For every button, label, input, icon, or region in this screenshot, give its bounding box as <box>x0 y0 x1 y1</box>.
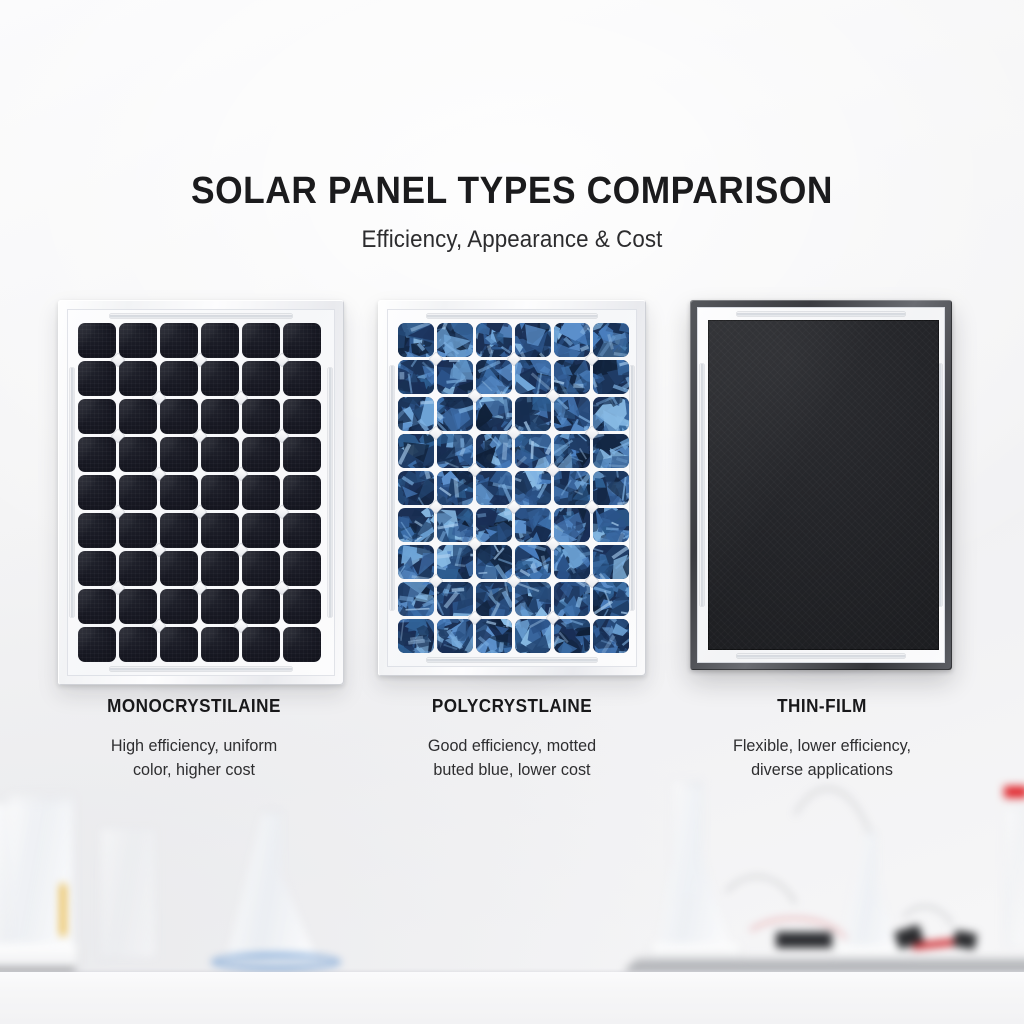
crystal-facet-texture <box>437 323 473 357</box>
panel-inner-border <box>697 307 945 663</box>
photovoltaic-cell-grid <box>398 323 629 653</box>
busbar-rail-left <box>390 366 394 609</box>
photovoltaic-cell <box>78 627 116 662</box>
photovoltaic-cell <box>476 434 512 468</box>
photovoltaic-cell <box>515 545 551 579</box>
experiment-setup-right <box>600 780 1024 990</box>
crystal-facet-texture <box>593 360 629 394</box>
photovoltaic-cell <box>119 475 157 510</box>
photovoltaic-cell <box>242 399 280 434</box>
photovoltaic-cell <box>398 508 434 542</box>
crystal-facet-texture <box>437 360 473 394</box>
header: SOLAR PANEL TYPES COMPARISON Efficiency,… <box>0 172 1024 254</box>
glassware-cluster-left <box>0 788 282 978</box>
crystal-facet-texture <box>476 434 512 468</box>
photovoltaic-cell <box>78 437 116 472</box>
photovoltaic-cell <box>283 513 321 548</box>
photovoltaic-cell <box>201 361 239 396</box>
photovoltaic-cell <box>515 397 551 431</box>
photovoltaic-cell <box>119 437 157 472</box>
photovoltaic-cell <box>78 323 116 358</box>
crystal-facet-texture <box>593 471 629 505</box>
caption-thin-film: THIN-FILM Flexible, lower efficiency, di… <box>686 696 958 782</box>
crystal-facet-texture <box>398 397 434 431</box>
photovoltaic-cell <box>283 475 321 510</box>
crystal-facet-texture <box>398 360 434 394</box>
description-line-1: Good efficiency, motted <box>428 736 596 755</box>
busbar-rail-right <box>630 366 634 609</box>
crystal-facet-texture <box>593 582 629 616</box>
red-label-chip <box>1004 786 1024 798</box>
photovoltaic-cell <box>160 513 198 548</box>
bench-edge-strip <box>0 968 75 972</box>
photovoltaic-cell <box>283 323 321 358</box>
photovoltaic-cell <box>201 589 239 624</box>
photovoltaic-cell <box>160 323 198 358</box>
crystal-facet-texture <box>593 323 629 357</box>
photovoltaic-cell <box>398 545 434 579</box>
photovoltaic-cell <box>160 627 198 662</box>
crystal-facet-texture <box>437 545 473 579</box>
foreground-lab-bench <box>0 774 1024 1024</box>
photovoltaic-cell <box>398 360 434 394</box>
busbar-rail-bottom <box>737 654 906 658</box>
photovoltaic-cell <box>593 434 629 468</box>
busbar-rail-top <box>737 312 906 316</box>
photovoltaic-cell <box>515 434 551 468</box>
crystal-facet-texture <box>515 619 551 653</box>
photovoltaic-cell <box>283 627 321 662</box>
photovoltaic-cell <box>160 589 198 624</box>
photovoltaic-cell <box>242 361 280 396</box>
busbar-rail-right <box>328 368 332 618</box>
photovoltaic-cell <box>554 545 590 579</box>
panel-description-thin-film: Flexible, lower efficiency, diverse appl… <box>693 734 951 782</box>
crystal-facet-texture <box>515 508 551 542</box>
busbar-rail-bottom <box>427 658 597 662</box>
photovoltaic-cell <box>78 551 116 586</box>
erlenmeyer-flask <box>226 812 318 962</box>
photovoltaic-cell <box>515 508 551 542</box>
panel-inner-border <box>387 309 637 667</box>
photovoltaic-cell <box>437 545 473 579</box>
caption-monocrystalline: MONOCRYSTILAINE High efficiency, uniform… <box>44 696 344 782</box>
crystal-facet-texture <box>515 471 551 505</box>
connecting-wire-red <box>738 918 850 950</box>
crystal-facet-texture <box>437 619 473 653</box>
busbar-rail-left <box>700 364 704 606</box>
crystal-facet-texture <box>437 508 473 542</box>
caption-polycrystalline: POLYCRYSTLAINE Good efficiency, motted b… <box>364 696 660 782</box>
photovoltaic-cell <box>283 437 321 472</box>
beaker-base <box>0 944 77 968</box>
crystal-facet-texture <box>437 582 473 616</box>
crystal-facet-texture <box>554 434 590 468</box>
flask-base-left <box>652 944 740 960</box>
crystal-facet-texture <box>476 545 512 579</box>
photovoltaic-cell <box>476 397 512 431</box>
photovoltaic-cell <box>437 323 473 357</box>
solar-panel-comparison-infographic: SOLAR PANEL TYPES COMPARISON Efficiency,… <box>0 0 1024 1024</box>
alligator-clip-black-2 <box>953 930 977 950</box>
photovoltaic-cell <box>437 434 473 468</box>
photovoltaic-cell <box>78 361 116 396</box>
photovoltaic-cell <box>554 397 590 431</box>
yellow-indicator-strip <box>60 884 66 936</box>
crystal-facet-texture <box>437 471 473 505</box>
crystal-facet-texture <box>398 323 434 357</box>
photovoltaic-cell <box>119 323 157 358</box>
photovoltaic-cell <box>515 360 551 394</box>
crystal-facet-texture <box>593 545 629 579</box>
photovoltaic-cell <box>476 508 512 542</box>
photovoltaic-cell <box>515 619 551 653</box>
photovoltaic-cell <box>398 434 434 468</box>
crystal-facet-texture <box>554 397 590 431</box>
photovoltaic-cell <box>160 361 198 396</box>
photovoltaic-cell <box>593 360 629 394</box>
crystal-facet-texture <box>515 545 551 579</box>
solar-panel-monocrystalline[interactable] <box>58 300 344 685</box>
photovoltaic-cell <box>283 399 321 434</box>
crystal-facet-texture <box>398 619 434 653</box>
graduated-cylinder-far-right <box>1004 808 1024 948</box>
crystal-facet-texture <box>554 508 590 542</box>
panel-label-thin-film: THIN-FILM <box>693 696 951 717</box>
photovoltaic-cell <box>201 323 239 358</box>
solar-panel-polycrystalline[interactable] <box>378 300 646 676</box>
photovoltaic-cell <box>554 582 590 616</box>
solar-panel-thin-film[interactable] <box>690 300 952 670</box>
busbar-rail-bottom <box>110 667 292 671</box>
photovoltaic-cell <box>593 619 629 653</box>
flask-base-right <box>836 946 908 962</box>
description-line-2: color, higher cost <box>133 760 255 779</box>
crystal-facet-texture <box>515 360 551 394</box>
crystal-facet-texture <box>398 582 434 616</box>
busbar-rail-top <box>110 314 292 318</box>
panel-description-polycrystalline: Good efficiency, motted buted blue, lowe… <box>371 734 652 782</box>
crystal-facet-texture <box>554 545 590 579</box>
description-line-1: Flexible, lower efficiency, <box>733 736 911 755</box>
blue-petri-dish-rim <box>212 954 340 970</box>
photovoltaic-cell <box>398 582 434 616</box>
photovoltaic-cell <box>476 545 512 579</box>
photovoltaic-cell <box>515 582 551 616</box>
photovoltaic-cell <box>201 475 239 510</box>
photovoltaic-cell <box>119 589 157 624</box>
crystal-facet-texture <box>476 323 512 357</box>
photovoltaic-cell <box>398 323 434 357</box>
photovoltaic-cell <box>119 551 157 586</box>
page-subtitle: Efficiency, Appearance & Cost <box>36 226 988 254</box>
panel-column-polycrystalline[interactable] <box>378 300 646 676</box>
photovoltaic-cell <box>160 551 198 586</box>
photovoltaic-cell <box>242 323 280 358</box>
connecting-wire-arc-1 <box>710 876 804 938</box>
photovoltaic-cell <box>160 475 198 510</box>
metal-tray <box>624 958 1024 972</box>
description-line-2: buted blue, lower cost <box>433 760 590 779</box>
crystal-facet-texture <box>593 508 629 542</box>
photovoltaic-cell <box>398 397 434 431</box>
photovoltaic-cell <box>593 582 629 616</box>
photovoltaic-cell <box>554 508 590 542</box>
photovoltaic-cell <box>201 627 239 662</box>
glass-plate <box>8 794 74 950</box>
photovoltaic-cell <box>78 399 116 434</box>
photovoltaic-cell <box>283 361 321 396</box>
photovoltaic-cell <box>119 627 157 662</box>
connecting-wire-arc-2 <box>768 788 888 942</box>
crystal-facet-texture <box>593 434 629 468</box>
thin-film-surface <box>708 320 939 650</box>
crystal-facet-texture <box>515 434 551 468</box>
photovoltaic-cell <box>119 361 157 396</box>
bench-surface <box>0 972 1024 1024</box>
crystal-facet-texture <box>476 397 512 431</box>
panel-frame-dark <box>690 300 952 670</box>
crystal-facet-texture <box>398 471 434 505</box>
photovoltaic-cell <box>593 471 629 505</box>
page-title: SOLAR PANEL TYPES COMPARISON <box>36 172 988 212</box>
crystal-facet-texture <box>398 545 434 579</box>
glassware-cluster-center <box>218 804 388 979</box>
photovoltaic-cell <box>554 360 590 394</box>
photovoltaic-cell <box>515 471 551 505</box>
photovoltaic-cell <box>437 619 473 653</box>
photovoltaic-cell-grid <box>78 323 321 662</box>
crystal-facet-texture <box>554 471 590 505</box>
beaker <box>0 802 74 950</box>
crystal-facet-texture <box>515 323 551 357</box>
photovoltaic-cell <box>283 551 321 586</box>
photovoltaic-cell <box>476 619 512 653</box>
photovoltaic-cell <box>201 399 239 434</box>
photovoltaic-cell <box>242 513 280 548</box>
erlenmeyer-flask-right <box>840 832 902 958</box>
panel-frame-silver <box>58 300 344 685</box>
photovoltaic-cell <box>201 513 239 548</box>
crystal-facet-texture <box>593 397 629 431</box>
photovoltaic-cell <box>242 627 280 662</box>
crystal-facet-texture <box>476 471 512 505</box>
photovoltaic-cell <box>554 434 590 468</box>
crystal-facet-texture <box>476 619 512 653</box>
photovoltaic-cell <box>476 582 512 616</box>
busbar-rail-left <box>70 368 74 618</box>
crystal-facet-texture <box>476 508 512 542</box>
photovoltaic-cell <box>78 475 116 510</box>
photovoltaic-cell <box>242 437 280 472</box>
photovoltaic-cell <box>398 619 434 653</box>
crystal-facet-texture <box>515 397 551 431</box>
photovoltaic-cell <box>593 508 629 542</box>
panel-column-thin-film[interactable] <box>690 300 952 670</box>
photovoltaic-cell <box>119 513 157 548</box>
photovoltaic-cell <box>242 589 280 624</box>
connecting-wire-arc-3 <box>892 906 958 948</box>
photovoltaic-cell <box>201 437 239 472</box>
photovoltaic-cell <box>593 397 629 431</box>
crystal-facet-texture <box>398 434 434 468</box>
photovoltaic-cell <box>398 471 434 505</box>
photovoltaic-cell <box>78 513 116 548</box>
photovoltaic-cell <box>437 360 473 394</box>
alligator-clip-black <box>894 924 924 949</box>
photovoltaic-cell <box>437 508 473 542</box>
crystal-facet-texture <box>398 508 434 542</box>
photovoltaic-cell <box>554 323 590 357</box>
photovoltaic-cell <box>160 437 198 472</box>
crystal-facet-texture <box>437 434 473 468</box>
photovoltaic-cell <box>242 475 280 510</box>
busbar-rail-top <box>427 314 597 318</box>
alligator-clip-red <box>912 937 970 950</box>
photovoltaic-cell <box>515 323 551 357</box>
battery-module <box>776 932 832 948</box>
photovoltaic-cell <box>283 589 321 624</box>
photovoltaic-cell <box>78 589 116 624</box>
crystal-facet-texture <box>476 582 512 616</box>
panel-inner-border <box>67 309 335 676</box>
crystal-facet-texture <box>554 582 590 616</box>
crystal-facet-texture <box>554 323 590 357</box>
photovoltaic-cell <box>554 619 590 653</box>
photovoltaic-cell <box>437 582 473 616</box>
description-line-2: diverse applications <box>751 760 893 779</box>
panel-frame-silver <box>378 300 646 676</box>
photovoltaic-cell <box>554 471 590 505</box>
photovoltaic-cell <box>476 323 512 357</box>
crystal-facet-texture <box>554 360 590 394</box>
graduated-cylinder <box>100 828 156 958</box>
photovoltaic-cell <box>201 551 239 586</box>
panel-label-polycrystalline: POLYCRYSTLAINE <box>371 696 652 717</box>
panel-label-monocrystalline: MONOCRYSTILAINE <box>52 696 337 717</box>
photovoltaic-cell <box>476 471 512 505</box>
panel-description-monocrystalline: High efficiency, uniform color, higher c… <box>52 734 337 782</box>
description-line-1: High efficiency, uniform <box>111 736 277 755</box>
crystal-facet-texture <box>554 619 590 653</box>
photovoltaic-cell <box>476 360 512 394</box>
crystal-facet-texture <box>437 397 473 431</box>
graduated-cylinder-tall <box>672 780 702 900</box>
crystal-facet-texture <box>593 619 629 653</box>
photovoltaic-cell <box>119 399 157 434</box>
photovoltaic-cell <box>437 397 473 431</box>
panel-column-monocrystalline[interactable] <box>58 300 344 685</box>
photovoltaic-cell <box>437 471 473 505</box>
erlenmeyer-flask-left <box>656 786 734 958</box>
photovoltaic-cell <box>160 399 198 434</box>
crystal-facet-texture <box>476 360 512 394</box>
photovoltaic-cell <box>593 545 629 579</box>
photovoltaic-cell <box>242 551 280 586</box>
photovoltaic-cell <box>593 323 629 357</box>
crystal-facet-texture <box>515 582 551 616</box>
